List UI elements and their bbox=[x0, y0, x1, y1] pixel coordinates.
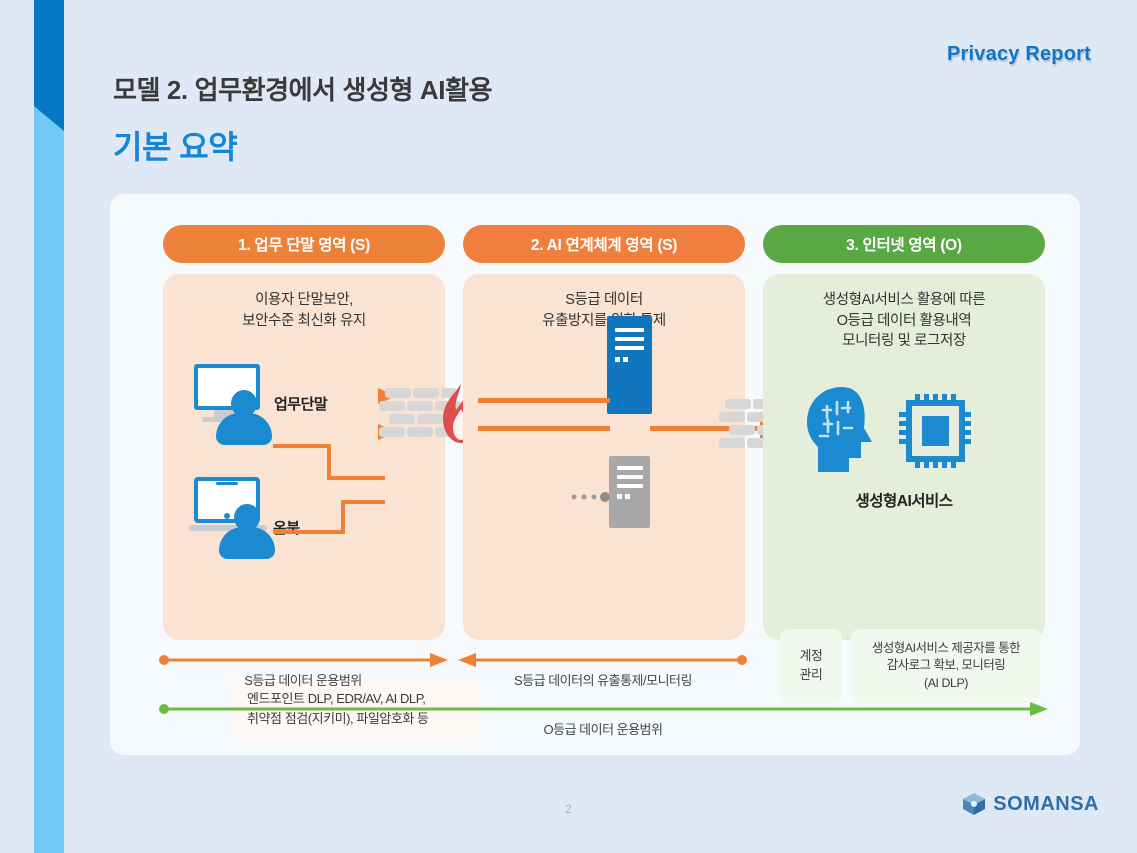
column-1-caption-line2: 보안수준 최신화 유지 bbox=[163, 311, 445, 332]
scope-label-s-monitoring: S등급 데이터의 유출통제/모니터링 bbox=[458, 670, 748, 689]
page-subtitle: 모델 2. 업무환경에서 생성형 AI활용 bbox=[113, 70, 492, 107]
ai-brain-head-icon bbox=[804, 384, 884, 476]
ai-service-label: 생성형AI서비스 bbox=[763, 489, 1045, 511]
somansa-logo: SOMANSA bbox=[962, 792, 1099, 816]
column-body-internet: 생성형AI서비스 활용에 따른 O등급 데이터 활용내역 모니터링 및 로그저장 bbox=[763, 274, 1045, 640]
account-management-box: 계정 관리 bbox=[780, 629, 842, 703]
account-management-line1: 계정 bbox=[800, 647, 823, 666]
connector-laptop-horizontal bbox=[273, 530, 345, 534]
column-3-caption: 생성형AI서비스 활용에 따른 O등급 데이터 활용내역 모니터링 및 로그저장 bbox=[763, 290, 1045, 352]
dotted-connector-auth bbox=[571, 490, 613, 504]
scope-label-o-operation: O등급 데이터 운용범위 bbox=[158, 719, 1048, 738]
column-2-caption: S등급 데이터 유출방지를 위한 통제 bbox=[463, 290, 745, 331]
column-body-ai-linkage: S등급 데이터 유출방지를 위한 통제 LLM을 통한 개인정보 유출통제, 프… bbox=[463, 274, 745, 640]
ai-gateway-server-icon bbox=[607, 316, 652, 414]
left-accent-bar-light bbox=[34, 0, 64, 853]
connector-desktop-to-wall bbox=[327, 476, 385, 480]
scope-label-s-operation: S등급 데이터 운용범위 bbox=[158, 670, 448, 689]
scope-arrow-o-operation bbox=[158, 702, 1048, 716]
page-title: 기본 요약 bbox=[113, 122, 237, 168]
column-3-caption-line1: 생성형AI서비스 활용에 따른 bbox=[763, 290, 1045, 311]
connector-desktop-vertical bbox=[327, 444, 331, 480]
account-management-line2: 관리 bbox=[800, 666, 823, 685]
column-3-caption-line3: 모니터링 및 로그저장 bbox=[763, 331, 1045, 352]
scope-arrow-s-operation bbox=[158, 653, 448, 667]
column-header-internet: 3. 인터넷 영역 (O) bbox=[763, 225, 1045, 263]
server-line-outbound-left bbox=[478, 398, 610, 403]
somansa-cube-icon bbox=[962, 792, 986, 816]
device-label-onbook: 온북 bbox=[273, 517, 300, 538]
scope-arrow-s-monitoring bbox=[458, 653, 748, 667]
column-3-caption-line2: O등급 데이터 활용내역 bbox=[763, 311, 1045, 332]
column-1-caption-line1: 이용자 단말보안, bbox=[163, 290, 445, 311]
ai-provider-line3: (AI DLP) bbox=[872, 675, 1020, 693]
column-2-caption-line1: S등급 데이터 bbox=[463, 290, 745, 311]
ai-provider-line1: 생성형AI서비스 제공자를 통한 bbox=[872, 640, 1020, 658]
column-2-caption-line2: 유출방지를 위한 통제 bbox=[463, 311, 745, 332]
connector-desktop-horizontal bbox=[273, 444, 331, 448]
privacy-report-badge: Privacy Report bbox=[947, 43, 1091, 66]
column-body-work-terminal: 이용자 단말보안, 보안수준 최신화 유지 업무단말 온북 엔드포인트 DLP,… bbox=[163, 274, 445, 640]
cpu-chip-icon bbox=[899, 394, 971, 468]
somansa-logo-text: SOMANSA bbox=[993, 793, 1099, 816]
column-1-caption: 이용자 단말보안, 보안수준 최신화 유지 bbox=[163, 290, 445, 331]
column-header-work-terminal: 1. 업무 단말 영역 (S) bbox=[163, 225, 445, 263]
server-line-inbound-left bbox=[478, 426, 610, 431]
column-header-ai-linkage: 2. AI 연계체계 영역 (S) bbox=[463, 225, 745, 263]
ai-provider-monitoring-box: 생성형AI서비스 제공자를 통한 감사로그 확보, 모니터링 (AI DLP) bbox=[851, 629, 1041, 703]
authentication-server-icon bbox=[609, 456, 650, 528]
connector-laptop-vertical bbox=[341, 500, 345, 534]
ai-provider-line2: 감사로그 확보, 모니터링 bbox=[872, 657, 1020, 675]
connector-laptop-to-wall bbox=[341, 500, 385, 504]
diagram-panel: 1. 업무 단말 영역 (S) 2. AI 연계체계 영역 (S) 3. 인터넷… bbox=[110, 194, 1080, 755]
device-label-work-terminal: 업무단말 bbox=[274, 393, 327, 414]
